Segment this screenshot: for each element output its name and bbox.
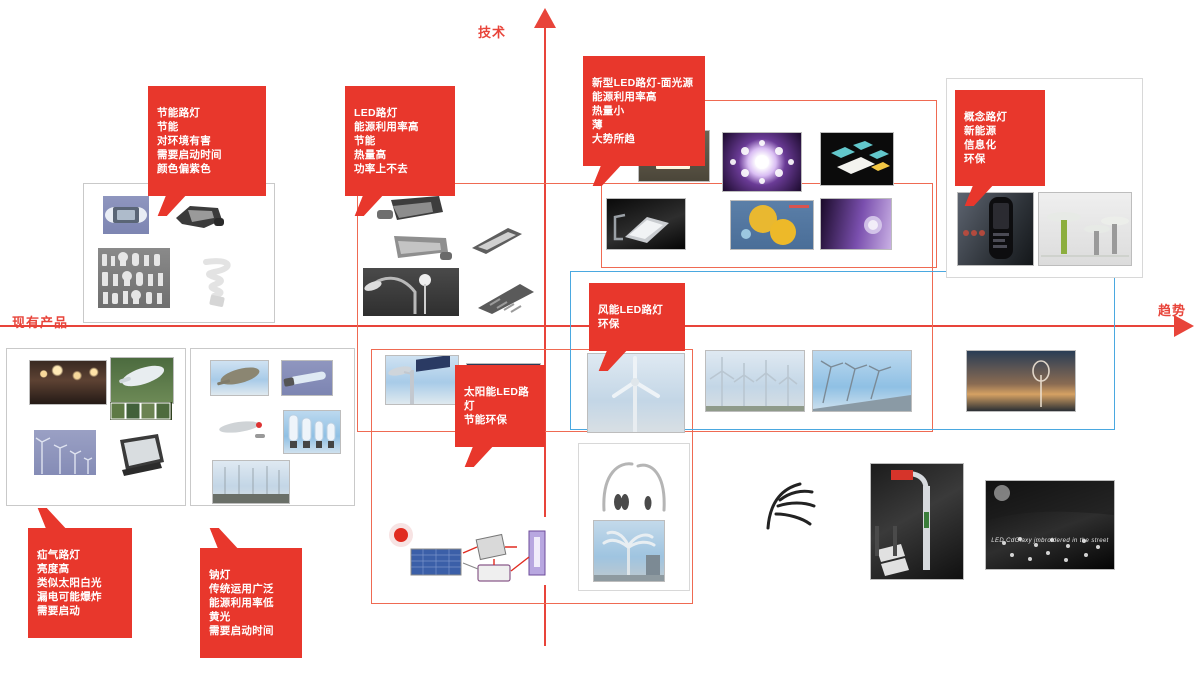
led-carpet-caption: LED CdGlaxy jmbroidered in the street — [986, 538, 1114, 544]
thumb-lamp-arm-white — [215, 415, 271, 445]
thumb-compact-fluorescent-bulb — [190, 252, 252, 314]
callout-energy-saving-lamp[interactable]: 节能路灯 节能 对环境有害 需要启动时间 颜色偏紫色 — [148, 86, 266, 196]
y-axis-label: 技术 — [478, 22, 506, 41]
thumb-led-carpet-street: LED CdGlaxy jmbroidered in the street — [985, 480, 1115, 570]
callout-energy-saving-lamp-text: 节能路灯 节能 对环境有害 需要启动时间 颜色偏紫色 — [157, 107, 222, 175]
thumb-led-desk-lamp — [606, 198, 686, 250]
thumb-arched-concept-lamps — [590, 452, 678, 514]
thumb-high-mast-lighting — [212, 460, 290, 504]
thumb-tree-concept-lamp — [593, 520, 665, 582]
thumb-flood-light — [110, 428, 172, 480]
callout-new-led-surface-light[interactable]: 新型LED路灯-面光源 能源利用率高 热量小 薄 大势所趋 — [583, 56, 705, 166]
thumb-solar-panel-street-lamp — [385, 355, 459, 405]
thumb-mushroom-concept-lamps — [1038, 192, 1132, 266]
thumb-lamp-thumbstrip — [110, 402, 172, 420]
thumb-led-head-medium — [378, 228, 456, 266]
thumb-black-sculpture-lamp — [750, 470, 820, 532]
thumb-led-panels-3d — [820, 132, 894, 186]
callout-sodium-lamp-text: 钠灯 传统运用广泛 能源利用率低 黄光 需要启动时间 — [209, 569, 274, 637]
callout-led-street-lamp[interactable]: LED路灯 能源利用率高 节能 热量高 功率上不去 — [345, 86, 455, 196]
technology-roadmap-canvas: 技术 趋势 现有产品 — [0, 0, 1200, 675]
callout-concept-street-lamp-text: 概念路灯 新能源 信息化 环保 — [964, 111, 1007, 165]
y-axis-arrow-icon — [534, 8, 556, 28]
thumb-led-fin-head — [470, 278, 540, 318]
thumb-led-display-pole — [870, 463, 964, 580]
callout-solar-led-street-lamp-text: 太阳能LED路灯 节能环保 — [464, 386, 529, 426]
callout-wind-led-street-lamp[interactable]: 风能LED路灯 环保 — [589, 283, 685, 351]
thumb-wind-turbine-farm — [705, 350, 805, 412]
callout-solar-led-street-lamp[interactable]: 太阳能LED路灯 节能环保 — [455, 365, 545, 447]
thumb-night-street-lights — [29, 360, 107, 405]
thumb-led-panel-head — [466, 222, 528, 260]
callout-wind-led-street-lamp-text: 风能LED路灯 环保 — [598, 304, 663, 330]
callout-led-street-lamp-text: LED路灯 能源利用率高 节能 热量高 功率上不去 — [354, 107, 419, 175]
thumb-bulb-collection — [98, 248, 170, 308]
callout-concept-street-lamp[interactable]: 概念路灯 新能源 信息化 环保 — [955, 90, 1045, 186]
callout-xenon-street-lamp[interactable]: 疝气路灯 亮度高 类似太阳白光 漏电可能爆炸 需要启动 — [28, 528, 132, 638]
callout-xenon-street-lamp-text: 疝气路灯 亮度高 类似太阳白光 漏电可能爆炸 需要启动 — [37, 549, 102, 617]
thumb-led-light-pattern — [722, 132, 802, 192]
origin-label: 现有产品 — [12, 312, 68, 331]
thumb-wind-lamp-bridge — [812, 350, 912, 412]
thumb-lamp-head-outdoor — [110, 357, 174, 404]
callout-tail-icon — [38, 508, 66, 529]
callout-tail-icon — [210, 528, 238, 549]
thumb-energy-lamp-module — [103, 196, 149, 234]
thumb-led-glow-render — [820, 198, 892, 250]
callout-new-led-surface-light-text: 新型LED路灯-面光源 能源利用率高 热量小 薄 大势所趋 — [592, 77, 693, 145]
thumb-sodium-lamp-head-sky — [210, 360, 269, 396]
thumb-street-pole-array — [34, 430, 96, 475]
callout-sodium-lamp[interactable]: 钠灯 传统运用广泛 能源利用率低 黄光 需要启动时间 — [200, 548, 302, 658]
thumb-sodium-tube — [281, 360, 333, 396]
thumb-led-head-large — [373, 190, 448, 232]
thumb-curved-lamp-post — [363, 268, 459, 316]
x-axis-label: 趋势 — [1158, 300, 1186, 319]
thumb-wind-lamp-sunset — [966, 350, 1076, 412]
thumb-led-circle-diagram — [730, 200, 814, 250]
thumb-solar-system-diagram — [383, 517, 558, 585]
thumb-lamp-tubes-four — [283, 410, 341, 454]
